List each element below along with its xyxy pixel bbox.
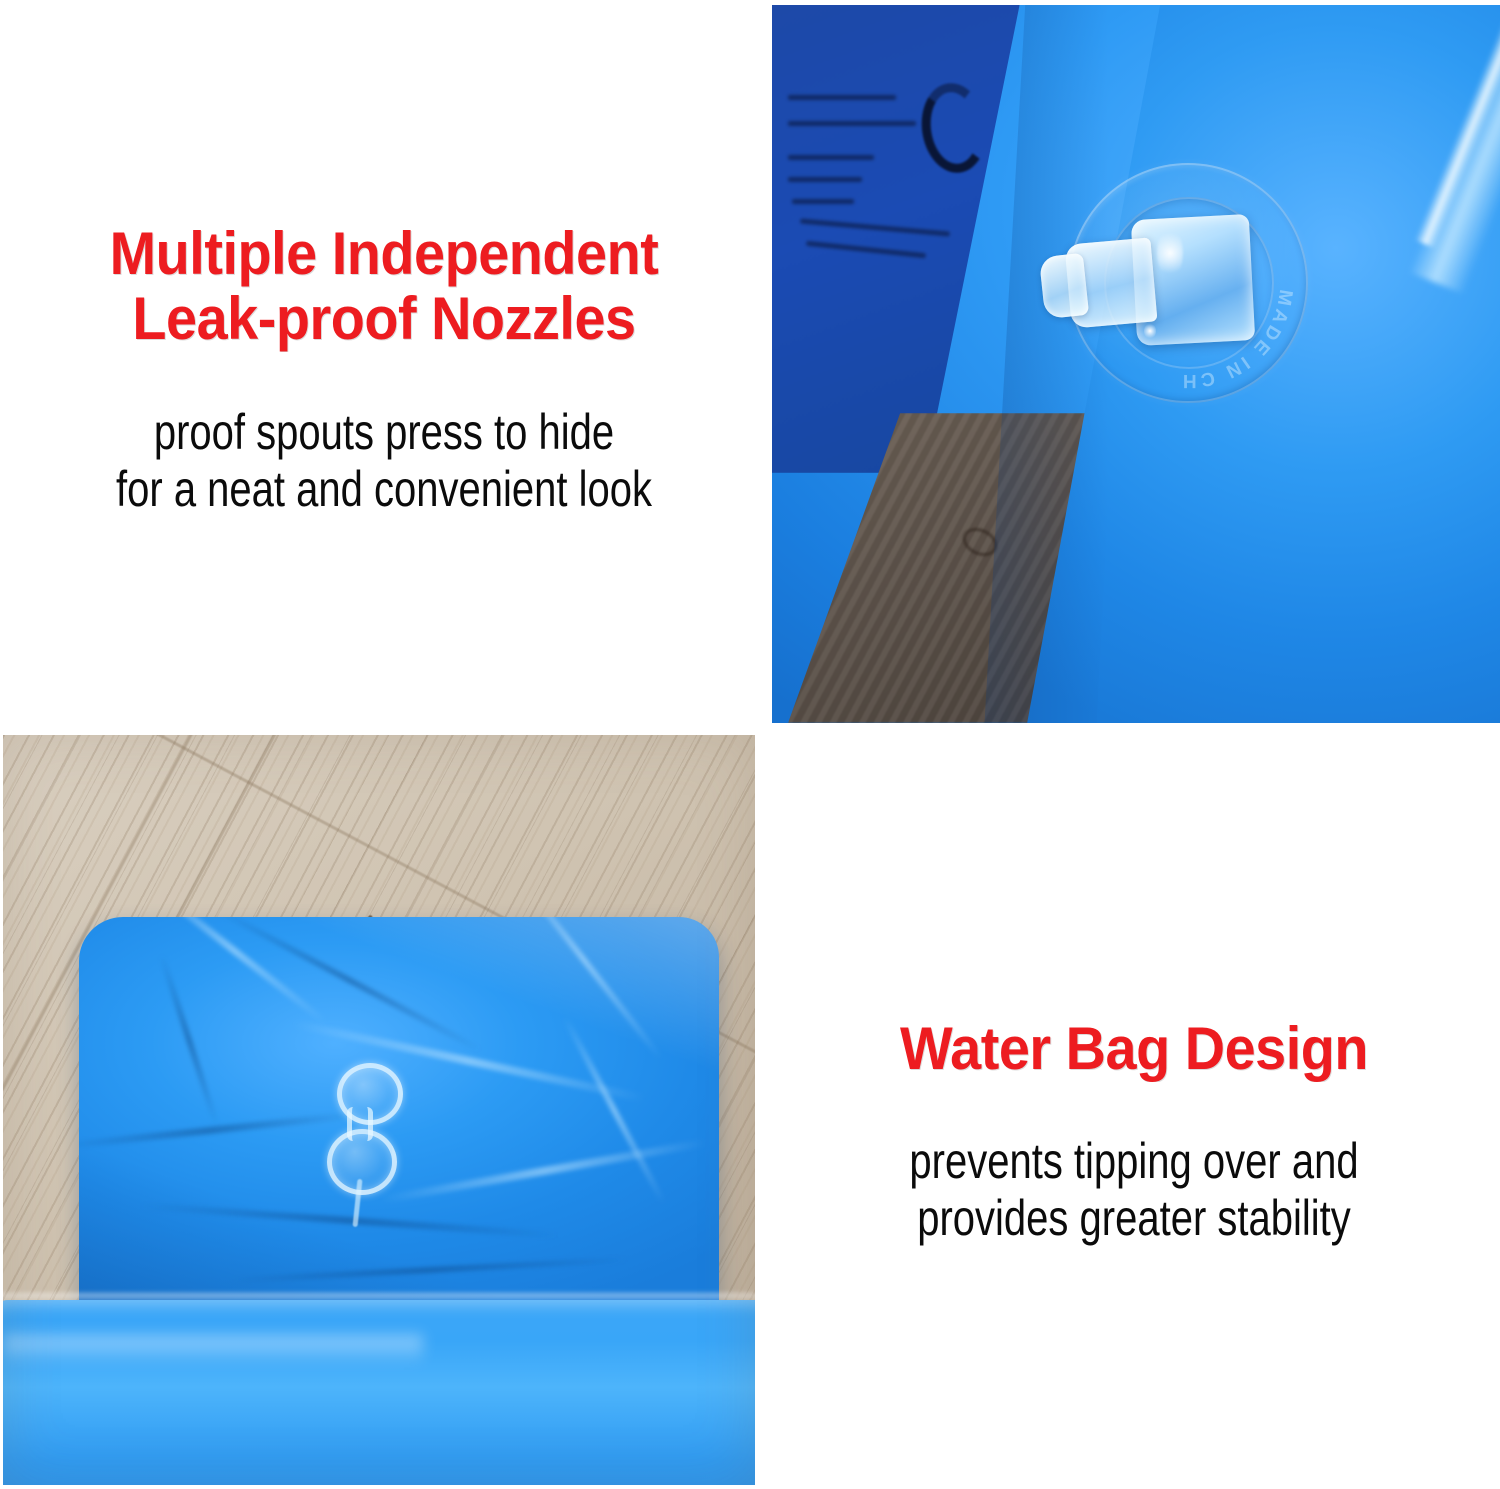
feature-panel-nozzles: Multiple Independent Leak-proof Nozzles …	[0, 0, 768, 728]
photo-valve-closeup: MADE IN CHINA	[772, 5, 1500, 723]
valve-tip	[1039, 253, 1089, 319]
feature-panel-water-bag: Water Bag Design prevents tipping over a…	[768, 728, 1500, 1489]
feature-heading-water-bag: Water Bag Design	[794, 1017, 1475, 1082]
cylinder-highlight	[3, 1335, 423, 1365]
feature-heading-nozzles: Multiple Independent Leak-proof Nozzles	[27, 222, 741, 352]
photo-water-bag	[3, 735, 755, 1485]
feature-body-water-bag: prevents tipping over and provides great…	[841, 1133, 1427, 1247]
blue-inflatable-cylinder	[3, 1300, 755, 1485]
bag-plug-ring-lower	[327, 1129, 397, 1195]
infographic-canvas: Multiple Independent Leak-proof Nozzles …	[0, 0, 1500, 1489]
valve-specular-spark	[1144, 323, 1156, 339]
valve-highlight	[1157, 227, 1183, 279]
folded-water-bag	[79, 917, 719, 1337]
feature-body-nozzles: proof spouts press to hide for a neat an…	[77, 404, 691, 518]
